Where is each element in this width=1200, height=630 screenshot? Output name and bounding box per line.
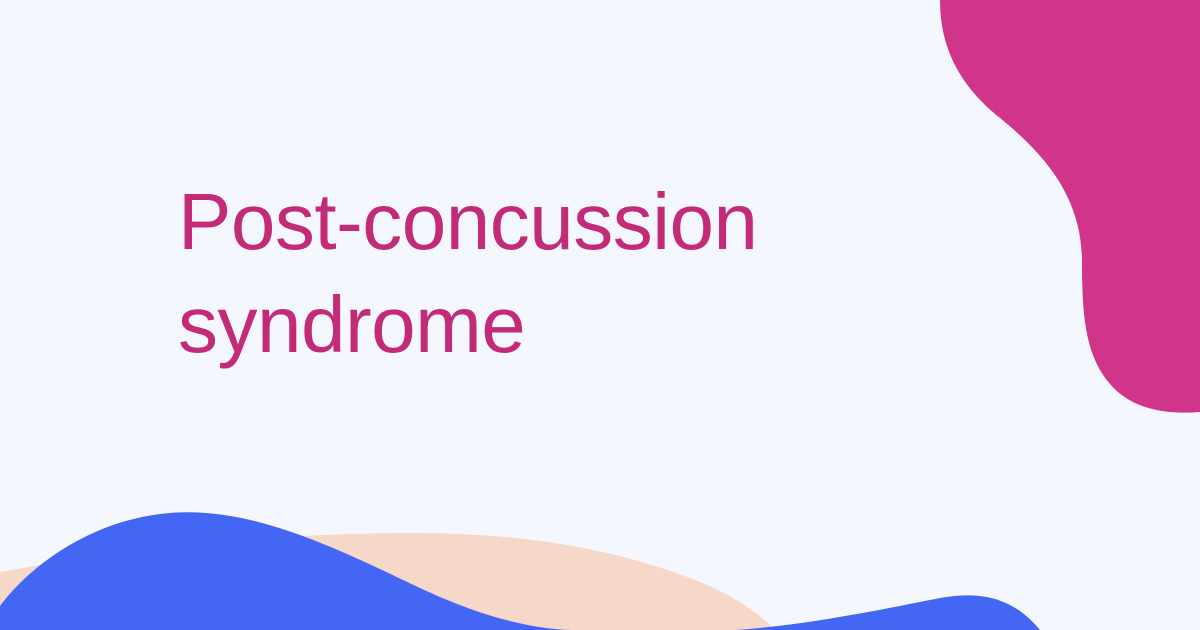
- page-title: Post-concussion syndrome: [178, 170, 938, 376]
- og-card: Post-concussion syndrome: [0, 0, 1200, 630]
- title-block: Post-concussion syndrome: [178, 170, 938, 376]
